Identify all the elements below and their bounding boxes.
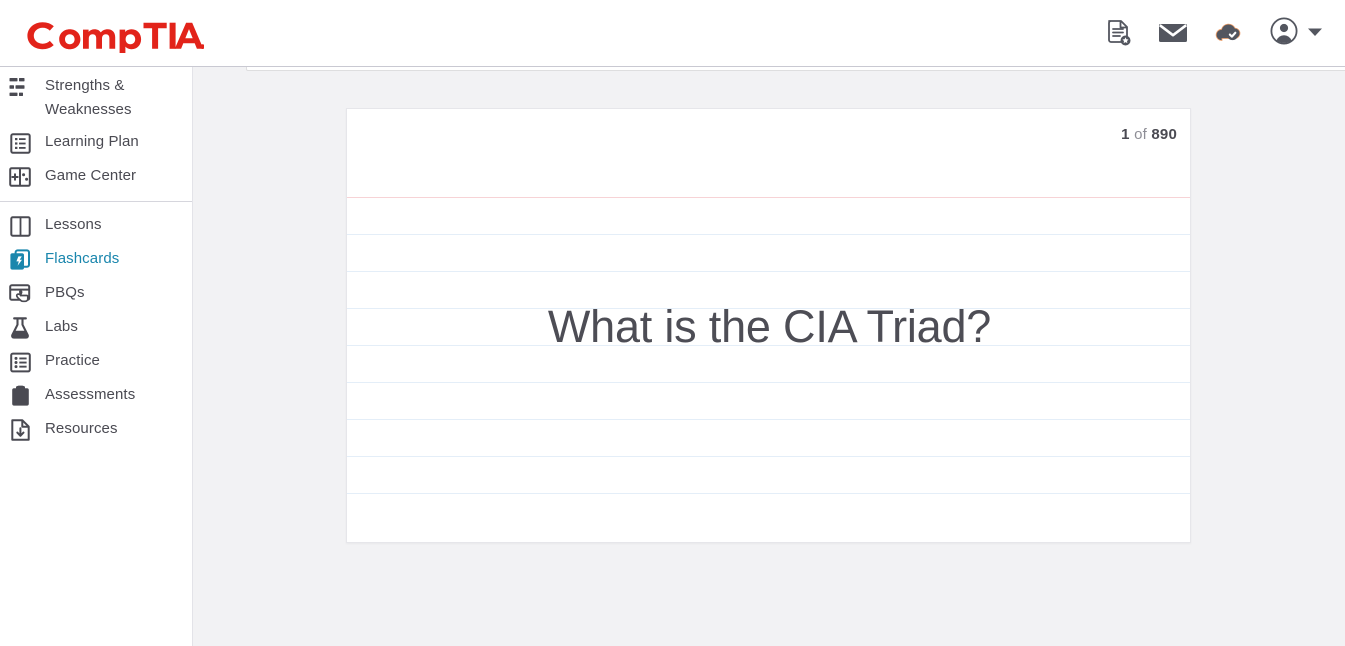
app-header	[0, 0, 1345, 67]
pbqs-icon	[8, 282, 32, 306]
sidebar-nav: Strengths & Weaknesses Learning Plan	[0, 67, 193, 646]
flashcard-area: 1 of 890 What is the CIA Triad?	[346, 108, 1191, 543]
cloud-check-icon[interactable]	[1214, 21, 1244, 45]
sidebar-item-lessons[interactable]: Lessons	[0, 209, 192, 243]
game-center-icon	[8, 165, 32, 189]
resources-icon	[8, 418, 32, 442]
sidebar-item-learning-plan[interactable]: Learning Plan	[0, 126, 192, 160]
strengths-weaknesses-icon	[8, 75, 32, 99]
sidebar-divider	[0, 201, 193, 202]
sidebar-item-flashcards[interactable]: Flashcards	[0, 243, 192, 277]
learning-plan-icon	[8, 131, 32, 155]
practice-icon	[8, 350, 32, 374]
sidebar-item-assessments[interactable]: Assessments	[0, 379, 192, 413]
sidebar-item-resources[interactable]: Resources	[0, 413, 192, 447]
sidebar-item-label: Assessments	[45, 383, 135, 407]
main-content: 1 of 890 What is the CIA Triad?	[193, 67, 1345, 646]
sidebar-item-label: Practice	[45, 349, 100, 373]
sidebar-item-label: Lessons	[45, 213, 102, 237]
header-actions	[1106, 17, 1323, 50]
sidebar-item-game-center[interactable]: Game Center	[0, 160, 192, 194]
assessments-icon	[8, 384, 32, 408]
sidebar-item-label: Strengths & Weaknesses	[45, 74, 132, 122]
flashcards-icon	[8, 248, 32, 272]
sidebar-item-label: Resources	[45, 417, 118, 441]
sidebar-item-practice[interactable]: Practice	[0, 345, 192, 379]
lessons-icon	[8, 214, 32, 238]
sidebar-item-label: Game Center	[45, 164, 136, 188]
account-menu[interactable]	[1270, 17, 1323, 50]
scrolled-toolbar-panel	[246, 67, 1345, 71]
comptia-logo[interactable]	[12, 0, 204, 67]
sidebar-item-label: Labs	[45, 315, 78, 339]
avatar	[1270, 17, 1298, 50]
sidebar-item-label: Learning Plan	[45, 130, 139, 154]
sidebar-item-strengths-weaknesses[interactable]: Strengths & Weaknesses	[0, 70, 192, 126]
flashcard-question: What is the CIA Triad?	[347, 109, 1191, 543]
app-root: Strengths & Weaknesses Learning Plan	[0, 0, 1345, 646]
notes-document-icon[interactable]	[1106, 19, 1132, 47]
sidebar-item-label: PBQs	[45, 281, 85, 305]
sidebar-item-labs[interactable]: Labs	[0, 311, 192, 345]
sidebar-item-label: Flashcards	[45, 247, 119, 271]
mail-icon[interactable]	[1158, 21, 1188, 45]
flashcard[interactable]: 1 of 890 What is the CIA Triad?	[346, 108, 1191, 543]
sidebar-item-pbqs[interactable]: PBQs	[0, 277, 192, 311]
chevron-down-icon	[1307, 24, 1323, 42]
labs-icon	[8, 316, 32, 340]
